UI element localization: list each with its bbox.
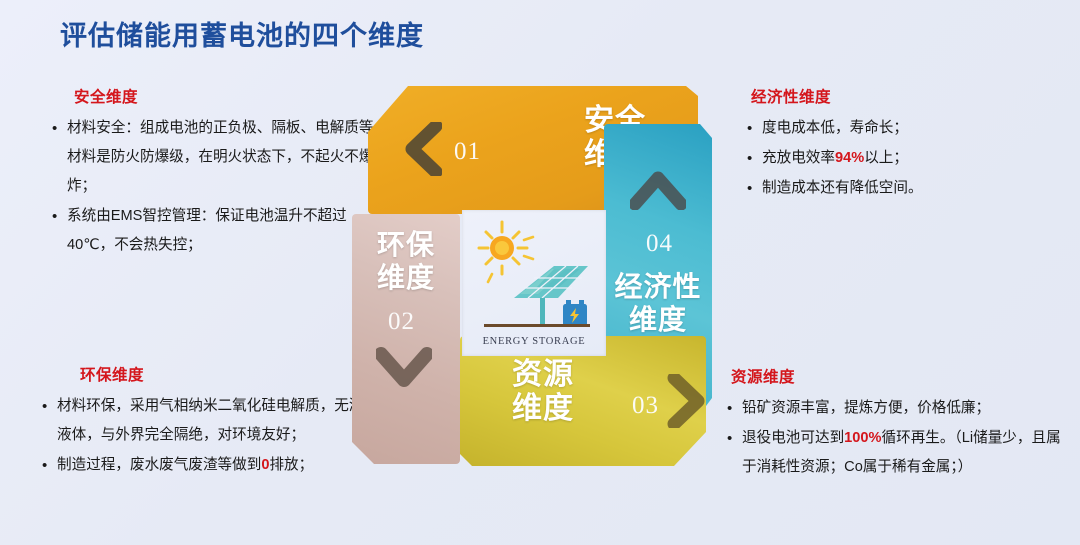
block-heading-resource: 资源维度 <box>731 365 1070 387</box>
chevron-right-icon <box>666 374 706 428</box>
block-heading-environment: 环保维度 <box>80 363 385 385</box>
list-item: 制造成本还有降低空间。 <box>745 174 1065 203</box>
list-item: 材料安全：组成电池的正负极、隔板、电解质等材料是防火防爆级，在明火状态下，不起火… <box>50 114 380 201</box>
quadrant-label-economy: 经济性维度 <box>602 270 714 336</box>
list-item: 退役电池可达到100%循环再生。（Li储量少，且属于消耗性资源；Co属于稀有金属… <box>725 424 1070 482</box>
list-item-text-post: 以上； <box>864 150 908 166</box>
quadrant-number-economy: 04 <box>646 230 673 258</box>
slide-canvas: 评估储能用蓄电池的四个维度 安全维度 材料安全：组成电池的正负极、隔板、电解质等… <box>0 0 1080 545</box>
list-item-text-pre: 制造过程，废水废气废渣等做到 <box>57 457 261 473</box>
octagon-diagram: 01 安全维度 04 经济性维度 02 环保维度 资源维度 03 <box>352 86 712 466</box>
chevron-up-icon <box>630 168 686 210</box>
quadrant-label-environment: 环保维度 <box>352 228 460 294</box>
text-block-resource: 资源维度 铅矿资源丰富，提炼方便，价格低廉； 退役电池可达到100%循环再生。（… <box>725 365 1070 483</box>
center-caption: ENERGY STORAGE <box>462 336 606 347</box>
list-item: 制造过程，废水废气废渣等做到0排放； <box>40 451 385 480</box>
highlight-value: 94% <box>835 150 864 166</box>
list-item: 度电成本低，寿命长； <box>745 114 1065 143</box>
list-item-text-pre: 退役电池可达到 <box>742 430 844 446</box>
ground-line <box>484 324 590 327</box>
list-item-text-post: 排放； <box>269 457 313 473</box>
battery-icon <box>563 300 587 326</box>
list-item: 充放电效率94%以上； <box>745 144 1065 173</box>
list-item: 系统由EMS智控管理：保证电池温升不超过40℃，不会热失控； <box>50 202 380 260</box>
energy-storage-illustration <box>462 210 606 356</box>
page-title: 评估储能用蓄电池的四个维度 <box>60 14 424 53</box>
bullet-list-resource: 铅矿资源丰富，提炼方便，价格低廉； 退役电池可达到100%循环再生。（Li储量少… <box>725 394 1070 482</box>
quadrant-number-safety: 01 <box>454 138 481 166</box>
text-block-safety: 安全维度 材料安全：组成电池的正负极、隔板、电解质等材料是防火防爆级，在明火状态… <box>50 85 380 261</box>
list-item-text-pre: 充放电效率 <box>762 150 835 166</box>
quadrant-number-resource: 03 <box>632 392 659 420</box>
quadrant-label-resource: 资源维度 <box>478 358 608 426</box>
block-heading-economy: 经济性维度 <box>751 85 1065 107</box>
bullet-list-environment: 材料环保，采用气相纳米二氧化硅电解质，无游离液体，与外界完全隔绝，对环境友好； … <box>40 392 385 480</box>
chevron-left-icon <box>402 122 442 176</box>
text-block-environment: 环保维度 材料环保，采用气相纳米二氧化硅电解质，无游离液体，与外界完全隔绝，对环… <box>40 363 385 481</box>
bullet-list-safety: 材料安全：组成电池的正负极、隔板、电解质等材料是防火防爆级，在明火状态下，不起火… <box>50 114 380 260</box>
sun-inner <box>495 241 509 255</box>
quadrant-number-environment: 02 <box>388 308 415 336</box>
quadrant-environment[interactable]: 02 环保维度 <box>352 214 460 464</box>
highlight-value: 100% <box>844 430 881 446</box>
chevron-down-icon <box>376 346 432 388</box>
center-illustration: ENERGY STORAGE <box>462 210 606 356</box>
bullet-list-economy: 度电成本低，寿命长； 充放电效率94%以上； 制造成本还有降低空间。 <box>745 114 1065 203</box>
list-item: 铅矿资源丰富，提炼方便，价格低廉； <box>725 394 1070 423</box>
list-item: 材料环保，采用气相纳米二氧化硅电解质，无游离液体，与外界完全隔绝，对环境友好； <box>40 392 385 450</box>
text-block-economy: 经济性维度 度电成本低，寿命长； 充放电效率94%以上； 制造成本还有降低空间。 <box>745 85 1065 204</box>
block-heading-safety: 安全维度 <box>74 85 380 107</box>
